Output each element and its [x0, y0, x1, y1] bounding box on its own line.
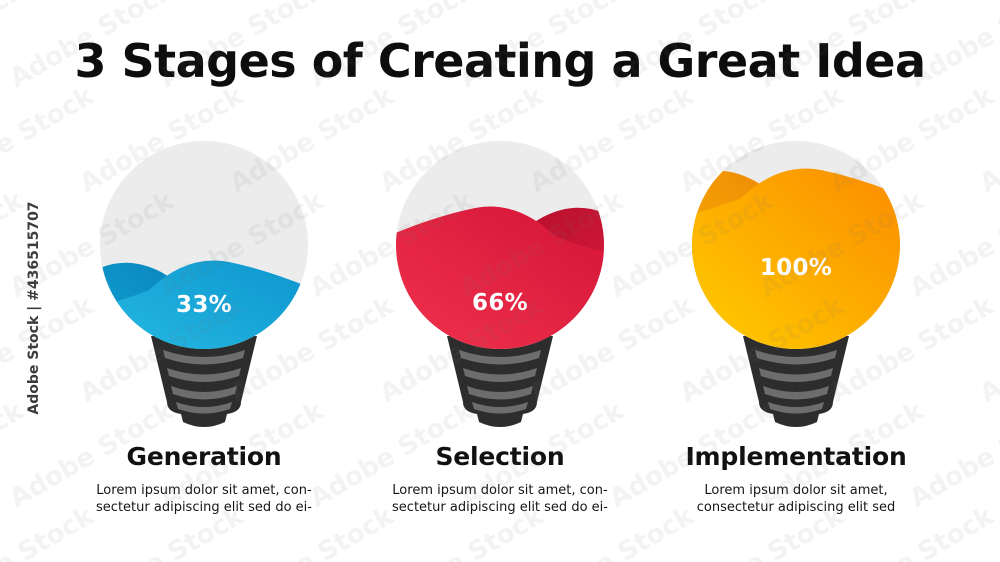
- bulb-graphic-generation: [91, 140, 317, 426]
- stage-title-selection: Selection: [352, 442, 648, 471]
- stage-column-selection[interactable]: 66% Selection Lorem ipsum dolor sit amet…: [352, 0, 648, 562]
- stage-column-generation[interactable]: 33% Generation Lorem ipsum dolor sit ame…: [56, 0, 352, 562]
- stage-title-generation: Generation: [56, 442, 352, 471]
- stage-description-implementation: Lorem ipsum dolor sit amet, consectetur …: [676, 482, 916, 516]
- bulb-graphic-implementation: [683, 140, 909, 426]
- bulb-base-generation: [151, 336, 257, 427]
- bulb-implementation[interactable]: 100%: [683, 140, 909, 426]
- stage-description-selection: Lorem ipsum dolor sit amet, con-sectetur…: [380, 482, 620, 516]
- bulb-selection[interactable]: 66%: [387, 140, 613, 426]
- bulb-graphic-selection: [387, 140, 613, 426]
- bulb-base-implementation: [743, 336, 849, 427]
- bulb-generation[interactable]: 33%: [91, 140, 317, 426]
- stages-row: 33% Generation Lorem ipsum dolor sit ame…: [0, 0, 1000, 562]
- infographic-canvas: Adobe StockAdobe StockAdobe StockAdobe S…: [0, 0, 1000, 562]
- bulb-fill-implementation: [671, 169, 921, 360]
- stage-description-generation: Lorem ipsum dolor sit amet, con-sectetur…: [84, 482, 324, 516]
- bulb-base-selection: [447, 336, 553, 427]
- stage-title-implementation: Implementation: [648, 442, 944, 471]
- bulb-fill-selection: [375, 207, 625, 370]
- stage-column-implementation[interactable]: 100% Implementation Lorem ipsum dolor si…: [648, 0, 944, 562]
